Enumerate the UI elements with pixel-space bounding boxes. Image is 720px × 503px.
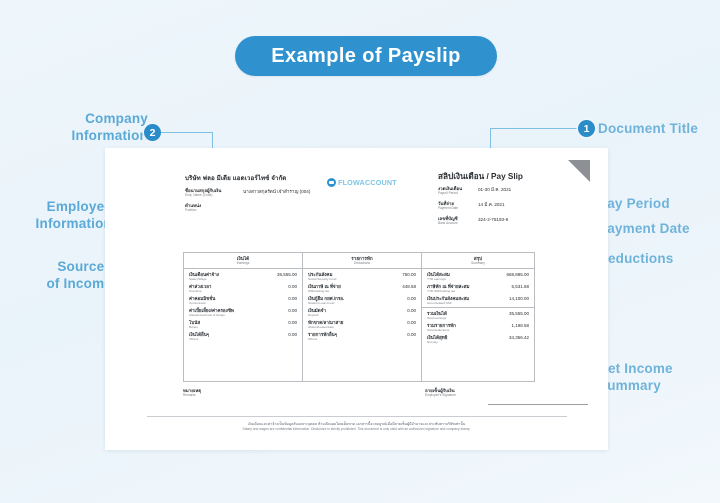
flowaccount-logo: FLOWACCOUNT: [327, 178, 397, 187]
employee-name-label: ชื่อนามสกุลผู้รับเงิน Emp. Name (Code): [185, 188, 243, 197]
deductions-row: ประกันสังคมSocial Security Fund 750.00: [303, 269, 421, 281]
deductions-row-label-en: Deposit: [308, 313, 326, 317]
deductions-header: รายการหัก Deductions: [303, 253, 421, 269]
deductions-row-amount: 0.00: [407, 296, 416, 301]
earnings-row-amount: 0.00: [288, 296, 297, 301]
employee-field-name: ชื่อนามสกุลผู้รับเงิน Emp. Name (Code) น…: [185, 188, 310, 197]
earnings-row: โบนัสBonus 0.00: [184, 317, 302, 329]
annotation-label-company-information: Company Information: [48, 110, 148, 144]
deductions-row: เงินภาษี ณ ที่จ่ายWithholding tax 448.58: [303, 281, 421, 293]
annotation-badge-1: 1: [578, 120, 595, 137]
summary-row-amount: 668,885.00: [506, 272, 529, 277]
payment-date-value: 14 มี.ค. 2021: [478, 201, 505, 207]
deductions-row: หักขาด/ลา/มาสายAbsent/Leave/Late 0.00: [303, 317, 421, 329]
flowaccount-logo-icon: [327, 178, 336, 187]
remarks-block: หมายเหตุ Remarks: [183, 388, 201, 397]
deductions-row-label-en: Absent/Leave/Late: [308, 325, 343, 329]
leader-line-1-h: [490, 128, 578, 129]
annotation-badge-2: 2: [144, 124, 161, 141]
company-name: บริษัท ฟลอ มีเดีย แอดเวอร์ไทซ์ จำกัด: [185, 173, 286, 183]
earnings-row-label-en: Bonus: [189, 325, 200, 329]
deductions-row-amount: 0.00: [407, 308, 416, 313]
annotation-label-employee-information: Employee Information: [22, 198, 112, 232]
net-pay-amount: 34,356.42: [509, 335, 529, 340]
employee-information: ชื่อนามสกุลผู้รับเงิน Emp. Name (Code) น…: [185, 188, 310, 218]
payslip-document: บริษัท ฟลอ มีเดีย แอดเวอร์ไทซ์ จำกัด ชื่…: [105, 148, 608, 450]
earnings-row-amount: 0.00: [288, 320, 297, 325]
earnings-row-amount: 35,555.00: [277, 272, 297, 277]
summary-total-row: รวมเงินได้Total earnings 35,555.00: [422, 308, 534, 320]
deductions-row: เงินมัดจำDeposit 0.00: [303, 305, 421, 317]
bank-account-value: 324-2-75193-9: [478, 216, 508, 222]
payslip-title: สลิปเงินเดือน / Pay Slip: [438, 170, 523, 183]
flowaccount-logo-text: FLOWACCOUNT: [338, 178, 397, 187]
payroll-period-label-en: Payroll Period: [438, 191, 478, 195]
earnings-row-label-en: Others: [189, 337, 209, 341]
deductions-row-label-en: Withholding tax: [308, 289, 341, 293]
employee-position-label-en: Position: [185, 208, 243, 212]
deductions-row: เงินกู้ยืม กยศ./กรอ.Student Loan Fund 0.…: [303, 293, 421, 305]
annotation-label-pay-period: Pay Period: [598, 195, 670, 212]
deductions-row-amount: 448.58: [402, 284, 416, 289]
summary-total-row: เงินได้สุทธิNet pay 34,356.42: [422, 332, 534, 344]
summary-row-label-en: YTD earnings: [427, 277, 450, 281]
summary-header: สรุป Summary: [422, 253, 534, 269]
total-deductions-label-en: Total deductions: [427, 328, 456, 332]
meta-row-payment-date: วันที่จ่าย Payment Date 14 มี.ค. 2021: [438, 201, 511, 210]
deductions-column: รายการหัก Deductions ประกันสังคมSocial S…: [303, 253, 422, 381]
earnings-column: เงินได้ Earnings เงินเดือนค่าจ้างSalary/…: [184, 253, 303, 381]
deductions-row-amount: 750.00: [402, 272, 416, 277]
total-deductions-amount: 1,198.58: [511, 323, 529, 328]
deductions-row-label-en: Social Security Fund: [308, 277, 336, 281]
total-earnings-amount: 35,555.00: [509, 311, 529, 316]
summary-row-label-en: Accumulated SSF: [427, 301, 469, 305]
summary-row-label-en: YTD Withholding tax: [427, 289, 469, 293]
deductions-row-amount: 0.00: [407, 320, 416, 325]
earnings-row-amount: 0.00: [288, 308, 297, 313]
signature-block: ลายเซ็นผู้รับเงิน Employee's Signature: [425, 388, 456, 397]
earnings-row: ค่าเบี้ยเลี้ยง/ค่าครองชีพAllowances/Cost…: [184, 305, 302, 317]
summary-total-row: รวมรายการหักTotal deductions 1,198.58: [422, 320, 534, 332]
leader-line-2-h: [161, 132, 213, 133]
annotation-label-sources-of-income: Sources of Income: [32, 258, 112, 292]
net-pay-label-en: Net pay: [427, 340, 447, 344]
page-title-pill: Example of Payslip: [235, 36, 497, 76]
footer-note: เงินเดือนและค่าจ้างเป็นข้อมูลลับเฉพาะบุค…: [105, 422, 608, 432]
deductions-row: รายการหักอื่นๆOthers 0.00: [303, 329, 421, 341]
payroll-period-label: งวดเงินเดือน Payroll Period: [438, 186, 478, 195]
annotation-label-net-income-summary: Net Income Summary: [598, 360, 673, 394]
employee-position-label: ตำแหน่ง Position: [185, 203, 243, 212]
deductions-row-label-en: Student Loan Fund: [308, 301, 344, 305]
earnings-row: ค่าคอมมิชชั่นCommission 0.00: [184, 293, 302, 305]
annotation-label-payment-date: Payment Date: [598, 220, 690, 237]
remarks-label-en: Remarks: [183, 393, 201, 397]
payment-date-label: วันที่จ่าย Payment Date: [438, 201, 478, 210]
summary-row-amount: 14,100.00: [509, 296, 529, 301]
deductions-header-en: Deductions: [354, 261, 370, 265]
earnings-row: เงินได้อื่นๆOthers 0.00: [184, 329, 302, 341]
signature-line: [488, 404, 588, 405]
payslip-table: เงินได้ Earnings เงินเดือนค่าจ้างSalary/…: [183, 252, 535, 382]
employee-name-value: นางสาวสกุลรัตน์ เจ้าสำราญ (004): [243, 188, 310, 194]
payment-date-label-en: Payment Date: [438, 206, 478, 210]
page-title: Example of Payslip: [271, 45, 461, 68]
summary-row-amount: 5,531.68: [511, 284, 529, 289]
summary-column: สรุป Summary เงินได้สะสมYTD earnings 668…: [422, 253, 534, 381]
payroll-period-value: 01-30 มี.ค. 2021: [478, 186, 511, 192]
summary-row: เงินประกันสังคมสะสมAccumulated SSF 14,10…: [422, 293, 534, 305]
summary-row: ภาษีหัก ณ ที่จ่ายสะสมYTD Withholding tax…: [422, 281, 534, 293]
annotation-label-document-title: Document Title: [598, 120, 698, 137]
bank-account-label: เลขที่บัญชี Bank Account: [438, 216, 478, 225]
earnings-row-label-en: Allowances/Cost of livings: [189, 313, 234, 317]
annotation-label-deductions: Deductions: [598, 250, 674, 267]
meta-row-bank-account: เลขที่บัญชี Bank Account 324-2-75193-9: [438, 216, 511, 225]
summary-header-en: Summary: [471, 261, 485, 265]
total-earnings-label-en: Total earnings: [427, 316, 447, 320]
earnings-row-label-en: Commission: [189, 301, 215, 305]
earnings-header-en: Earnings: [237, 261, 250, 265]
earnings-row: เงินเดือนค่าจ้างSalary/Wage 35,555.00: [184, 269, 302, 281]
deductions-row-label-en: Others: [308, 337, 337, 341]
employee-field-position: ตำแหน่ง Position: [185, 203, 310, 212]
deductions-row-amount: 0.00: [407, 332, 416, 337]
earnings-header: เงินได้ Earnings: [184, 253, 302, 269]
earnings-row-amount: 0.00: [288, 332, 297, 337]
earnings-row-label-en: Salary/Wage: [189, 277, 219, 281]
earnings-row-label-en: Overtime: [189, 289, 211, 293]
payslip-header: บริษัท ฟลอ มีเดีย แอดเวอร์ไทซ์ จำกัด ชื่…: [105, 148, 608, 236]
employee-name-label-en: Emp. Name (Code): [185, 193, 243, 197]
meta-row-payroll-period: งวดเงินเดือน Payroll Period 01-30 มี.ค. …: [438, 186, 511, 195]
earnings-row: ค่าล่วงเวลาOvertime 0.00: [184, 281, 302, 293]
bank-account-label-en: Bank Account: [438, 221, 478, 225]
footer-note-en: Salary and wages are confidential inform…: [105, 427, 608, 432]
signature-label-en: Employee's Signature: [425, 393, 456, 397]
footer-divider: [147, 416, 567, 417]
earnings-row-amount: 0.00: [288, 284, 297, 289]
summary-row: เงินได้สะสมYTD earnings 668,885.00: [422, 269, 534, 281]
payslip-meta: งวดเงินเดือน Payroll Period 01-30 มี.ค. …: [438, 186, 511, 231]
